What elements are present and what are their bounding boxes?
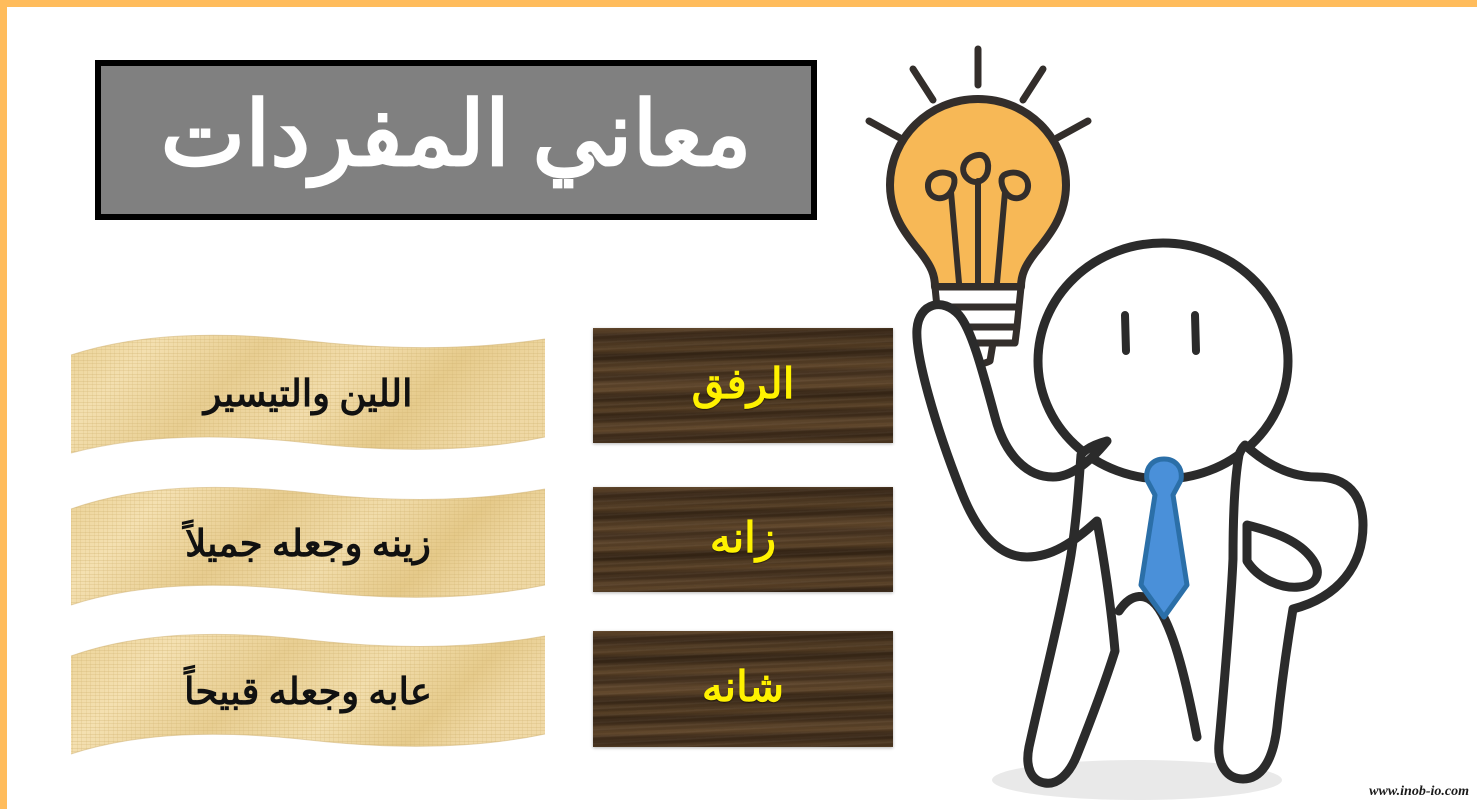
slide-canvas: معاني المفردات الرفق زانه شانه xyxy=(0,0,1477,809)
vocabulary-definition-1: اللين والتيسير xyxy=(204,372,413,416)
vocabulary-word-2: زانه xyxy=(710,513,776,563)
illustration-group xyxy=(847,25,1447,809)
page-title-box: معاني المفردات xyxy=(95,60,817,220)
vocabulary-definition-ribbon-1: اللين والتيسير xyxy=(69,325,547,467)
vocabulary-word-box-1: الرفق xyxy=(593,328,893,443)
vocabulary-word-3: شانه xyxy=(702,662,784,712)
figure-eyes xyxy=(1125,315,1196,351)
stick-figure-man xyxy=(917,243,1363,783)
vocabulary-word-1: الرفق xyxy=(692,359,795,409)
figure-hip-arm-inner xyxy=(1247,525,1317,587)
vocabulary-definition-2: زينه وجعله جميلاً xyxy=(185,522,431,566)
watermark: www.inob-io.com xyxy=(1369,784,1469,800)
figure-torso-and-hip-arm xyxy=(1219,445,1363,779)
figure-inner-leg-notch xyxy=(1119,596,1197,737)
vocabulary-definition-ribbon-3: عابه وجعله قبيحاً xyxy=(69,620,547,768)
vocabulary-definition-3: عابه وجعله قبيحاً xyxy=(184,670,432,714)
vocabulary-word-box-3: شانه xyxy=(593,631,893,747)
figure-shadow xyxy=(992,760,1282,800)
figure-head xyxy=(1038,243,1288,479)
lightbulb-base xyxy=(935,287,1021,364)
vocabulary-word-box-2: زانه xyxy=(593,487,893,592)
vocabulary-definition-ribbon-2: زينه وجعله جميلاً xyxy=(69,475,547,617)
lightbulb-filament xyxy=(928,155,1028,283)
figure-body xyxy=(917,305,1115,784)
idea-lightbulb-icon xyxy=(869,49,1088,364)
lightbulb-rays xyxy=(869,49,1088,138)
page-title: معاني المفردات xyxy=(160,91,751,181)
figure-necktie xyxy=(1141,459,1187,617)
lightbulb-glass xyxy=(890,99,1066,287)
